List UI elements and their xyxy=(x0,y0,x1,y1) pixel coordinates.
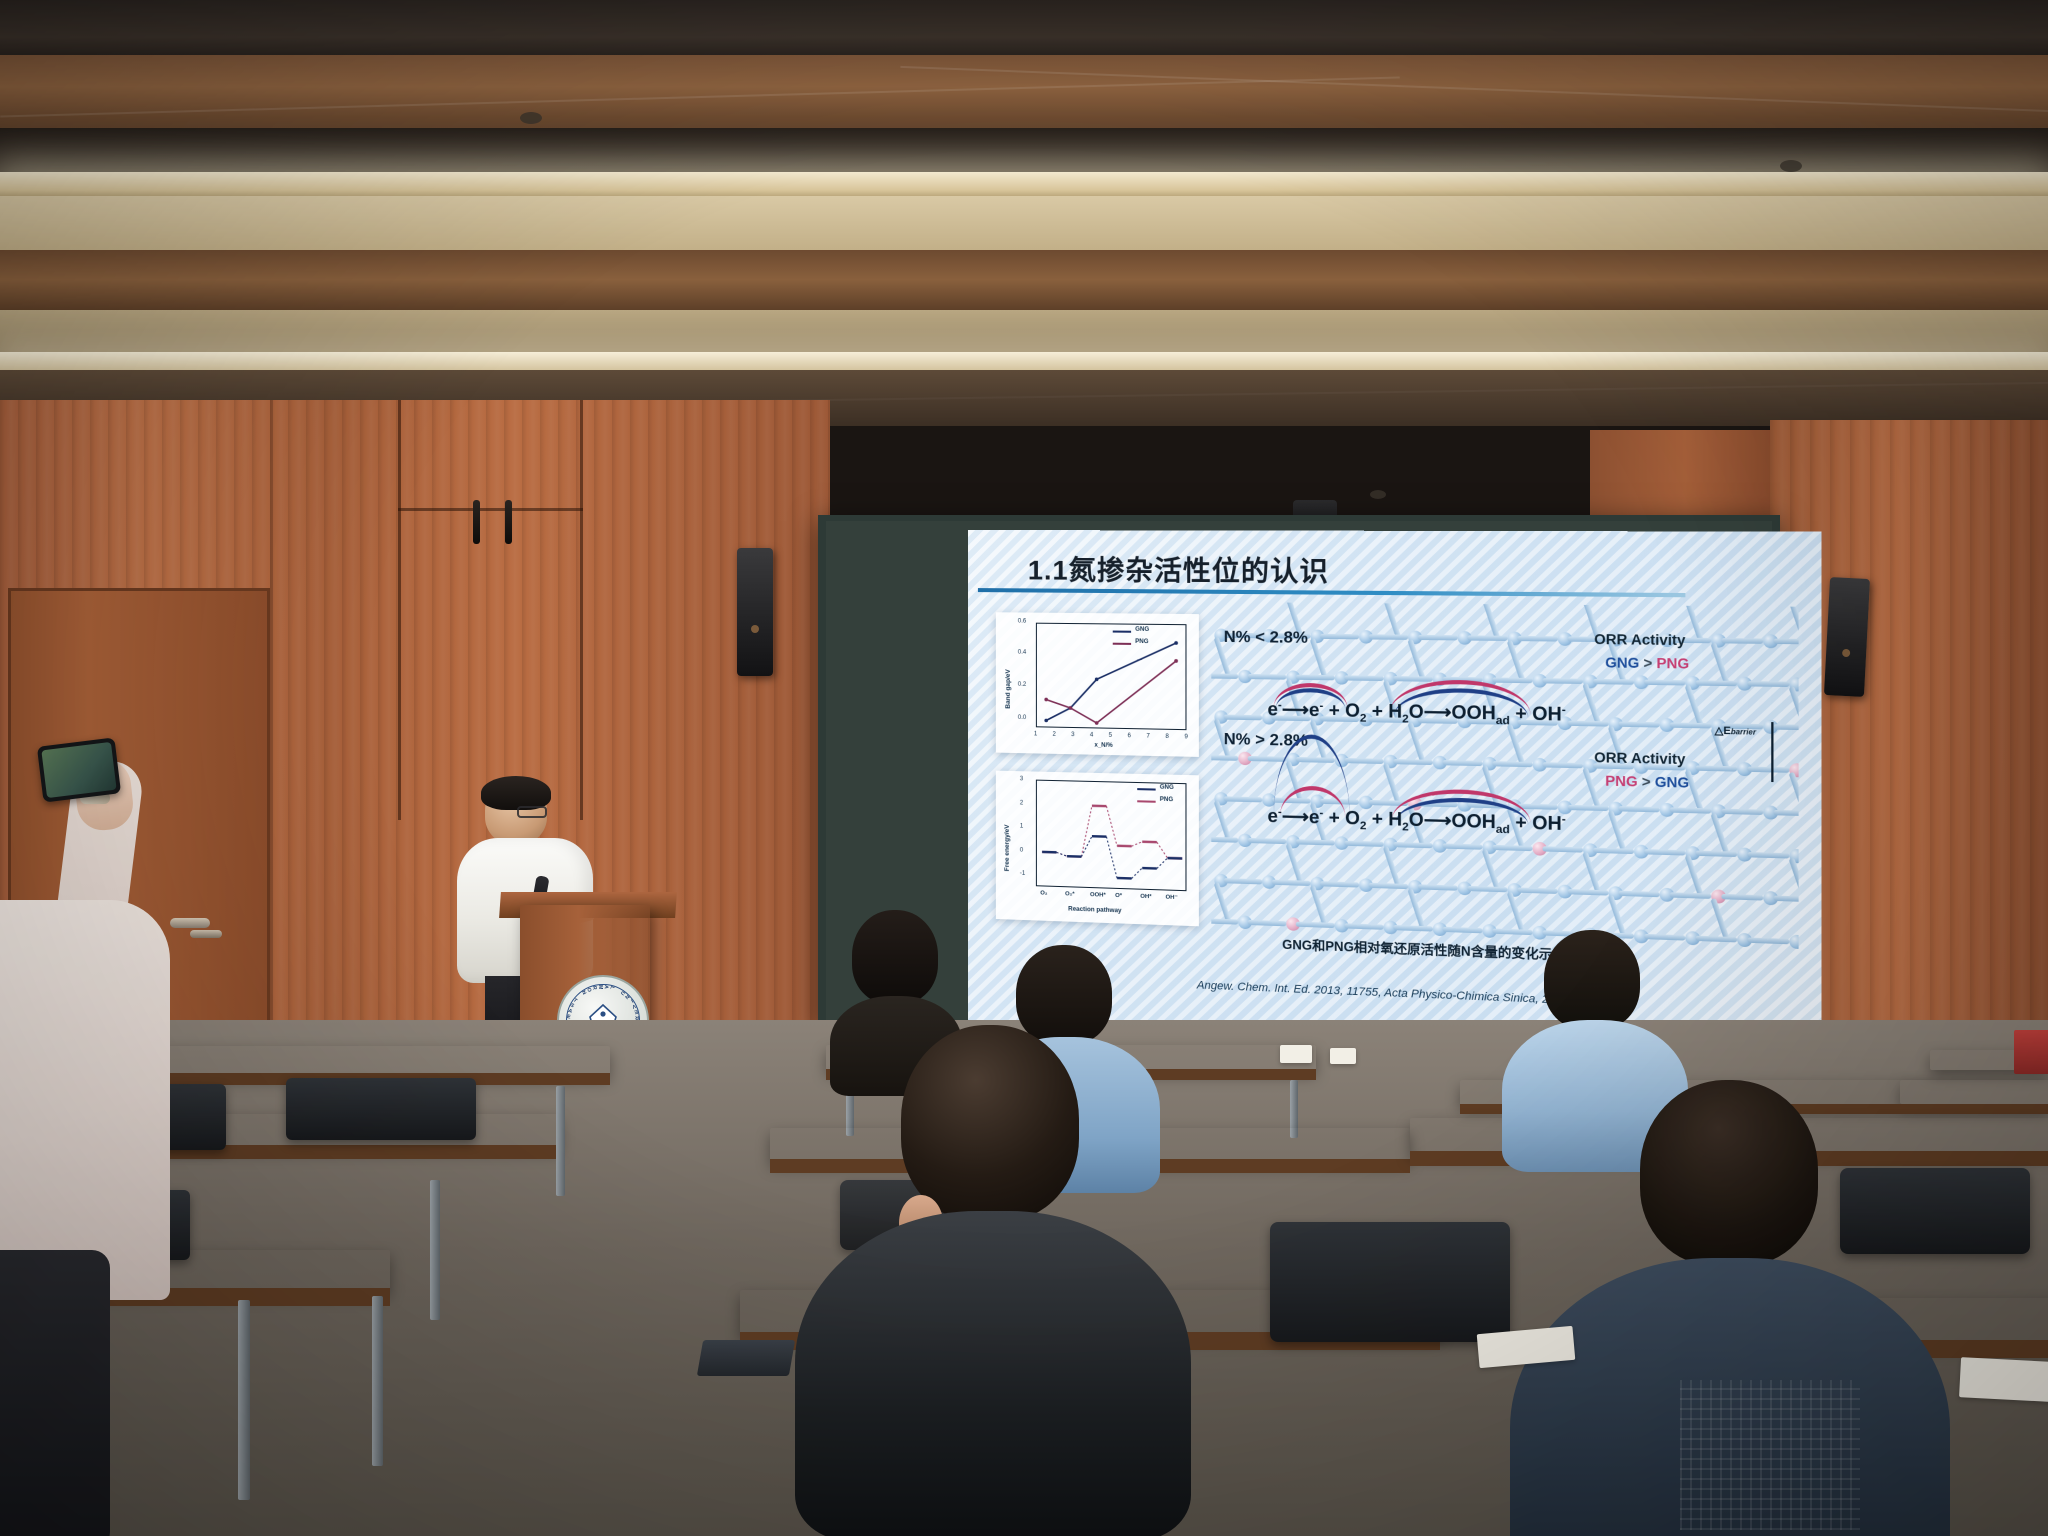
lattice-bond xyxy=(1272,880,1311,886)
presenter-glasses-icon xyxy=(517,806,547,818)
lattice-bond xyxy=(1517,636,1557,642)
chart-free-energy-xticks: O₂O₂*OOH*O*OH*OH⁻ xyxy=(996,771,1199,776)
cabinet-seam-horizontal xyxy=(398,508,583,511)
lattice-bond xyxy=(1721,638,1763,644)
lattice-bond xyxy=(1310,885,1328,926)
orr-compare-high-op: > xyxy=(1638,774,1655,790)
chart-free-energy-legend-swatch-gng xyxy=(1137,788,1155,790)
ceiling-vent-icon xyxy=(1780,160,1802,172)
attendee-right-front-shirt-pattern xyxy=(1680,1380,1860,1530)
lattice-atom xyxy=(1789,935,1798,949)
lattice-atom xyxy=(1789,602,1798,606)
lattice-bond xyxy=(1320,881,1359,887)
lattice-bond xyxy=(1670,807,1712,813)
chart-free-energy-yticks: -10123 xyxy=(996,771,1199,776)
ceiling-band-upper xyxy=(0,196,2048,256)
attendee-front-bald xyxy=(855,1025,1125,1345)
cabinet-handle-right[interactable] xyxy=(505,500,512,544)
chair-center-right[interactable] xyxy=(1270,1222,1510,1342)
lattice-bond xyxy=(1248,920,1287,927)
lattice-bond xyxy=(1747,852,1789,859)
orr-compare-high-a: PNG xyxy=(1605,773,1637,790)
chair-left-back-2[interactable] xyxy=(286,1078,476,1140)
lattice-bond xyxy=(1721,809,1763,815)
chart-free-energy-ytick-1: 0 xyxy=(1020,847,1023,853)
orr-compare-low-a: GNG xyxy=(1605,655,1639,671)
lattice-bond xyxy=(1492,677,1532,683)
lattice-bond xyxy=(1695,936,1737,943)
lattice-bond xyxy=(1773,810,1798,816)
ceiling-mount-icon xyxy=(1370,490,1386,499)
barrier-energy-subscript: barrier xyxy=(1731,729,1756,737)
lattice-bond xyxy=(1344,923,1383,930)
slide-title-underline xyxy=(978,588,1685,597)
lattice-bond xyxy=(1393,676,1433,682)
lattice-bond xyxy=(1482,849,1501,891)
cabinet-seam-vertical-2 xyxy=(580,400,583,820)
chart-band-gap-ytick-0: 0.0 xyxy=(1018,715,1026,721)
lattice-bond xyxy=(1517,887,1557,894)
orr-compare-low: GNG > PNG xyxy=(1605,655,1689,672)
lattice-bond xyxy=(1685,602,1704,642)
barrier-energy-symbol: △E xyxy=(1715,725,1731,737)
chart-free-energy-ylabel: Free energy/eV xyxy=(1004,824,1011,871)
lattice-bond xyxy=(1467,635,1507,641)
lattice-bond xyxy=(1582,683,1601,725)
lattice-bond xyxy=(1344,675,1383,681)
chart-band-gap-xtick-5: 6 xyxy=(1128,733,1131,739)
lattice-bond xyxy=(1747,681,1789,687)
lattice-bond xyxy=(1618,806,1659,812)
lattice-bond xyxy=(1443,760,1483,766)
lattice-bond xyxy=(1320,634,1359,640)
lattice-bond xyxy=(1383,846,1401,887)
lattice-bond xyxy=(1214,882,1232,923)
barrier-energy-arrow xyxy=(1771,722,1773,782)
emblem-letter: T xyxy=(572,997,578,1004)
chart-band-gap-xtick-3: 4 xyxy=(1090,732,1093,738)
desk-leg-left-1a xyxy=(556,1086,565,1196)
desk-leg-left-2a xyxy=(430,1180,440,1320)
lattice-bond xyxy=(1344,758,1383,764)
notebook-on-desk[interactable] xyxy=(697,1340,795,1376)
lattice-bond xyxy=(1383,763,1401,804)
chart-band-gap-legend-swatch-png xyxy=(1113,643,1131,645)
lattice-bond xyxy=(1695,680,1737,686)
lattice-bond xyxy=(1418,635,1458,641)
ceiling-light-strip-upper xyxy=(0,172,2048,198)
chart-free-energy-xtick-2: OOH* xyxy=(1090,892,1106,899)
lattice-atom xyxy=(1737,602,1752,605)
wall-speaker-right xyxy=(1824,577,1870,697)
lattice-bond xyxy=(1773,724,1798,730)
lattice-atom xyxy=(1483,602,1497,603)
lattice-bond xyxy=(1211,837,1238,843)
chart-free-energy[interactable]: Free energy/eV -10123 O₂O₂*OOH*O*OH*OH⁻ … xyxy=(996,771,1199,927)
lattice-bond xyxy=(1644,680,1685,686)
attendee-right-front-head xyxy=(1640,1080,1818,1266)
lattice-bond xyxy=(1393,842,1433,848)
lattice-bond xyxy=(1296,675,1335,681)
chart-band-gap-xtick-6: 7 xyxy=(1146,733,1149,739)
lattice-bond xyxy=(1492,761,1532,767)
attendee-front-bald-head xyxy=(901,1025,1079,1221)
desk-leg-left-3b xyxy=(372,1296,383,1466)
lattice-bond xyxy=(1492,845,1532,851)
slide-title: 1.1氮掺杂活性位的认识 xyxy=(1028,548,1329,589)
attendee-front-bald-body xyxy=(795,1211,1191,1536)
lattice-bond xyxy=(1507,724,1526,766)
ceiling-wood-beam-lower xyxy=(0,250,2048,316)
lattice-bond xyxy=(1344,841,1383,847)
lattice-bond xyxy=(1482,602,1501,639)
condition-label-low-nitrogen: N% < 2.8% xyxy=(1224,629,1308,648)
lattice-bond xyxy=(1224,715,1263,721)
lattice-bond xyxy=(1443,843,1483,849)
lattice-bond xyxy=(1224,878,1263,884)
red-book-on-desk[interactable] xyxy=(2014,1030,2048,1074)
chart-band-gap-xtick-1: 2 xyxy=(1052,732,1055,738)
lattice-bond xyxy=(1618,722,1659,728)
chart-free-energy-legend-swatch-png xyxy=(1137,800,1155,802)
attendee-foreground-left-body xyxy=(0,900,170,1300)
lattice-bond xyxy=(1685,855,1704,897)
door-handle-upper[interactable] xyxy=(170,918,210,928)
lattice-bond xyxy=(1542,678,1583,684)
chart-free-energy-xtick-3: O* xyxy=(1115,893,1122,899)
presenter-hair xyxy=(481,776,551,810)
lattice-bond xyxy=(1789,858,1799,901)
wall-speaker-left xyxy=(737,548,773,676)
lattice-bond xyxy=(1773,639,1798,645)
lattice-bond xyxy=(1507,891,1526,933)
lattice-bond xyxy=(1248,756,1287,762)
lattice-bond xyxy=(1685,684,1704,726)
door-handle-lower[interactable] xyxy=(190,930,222,938)
lattice-bond xyxy=(1670,722,1712,728)
cabinet-seam-vertical-3 xyxy=(270,400,273,1040)
lattice-bond xyxy=(1568,889,1609,896)
lattice-bond xyxy=(1747,937,1789,944)
ceiling-wood-beam-upper xyxy=(0,55,2048,135)
chart-free-energy-legend-label-gng: GNG xyxy=(1160,785,1174,791)
chart-band-gap-xlabel: x_N/% xyxy=(1094,743,1112,749)
lattice-bond xyxy=(1443,927,1483,934)
lattice-bond xyxy=(1296,922,1335,929)
chart-band-gap-xtick-2: 3 xyxy=(1071,732,1074,738)
chart-band-gap-xtick-8: 9 xyxy=(1184,734,1187,740)
lattice-atom xyxy=(1685,602,1700,605)
lattice-bond xyxy=(1542,762,1583,768)
lattice-bond xyxy=(1789,602,1799,643)
lattice-bond xyxy=(1507,640,1526,682)
lattice-bond xyxy=(1710,898,1729,940)
chart-band-gap-ylabel: Band gap/eV xyxy=(1005,669,1012,709)
attendee-right-back-head xyxy=(1544,930,1640,1030)
lattice-bond xyxy=(1721,894,1763,901)
lattice-bond xyxy=(1618,891,1659,898)
chart-band-gap-legend-label-gng: GNG xyxy=(1135,627,1149,633)
cabinet-handle-left[interactable] xyxy=(473,500,480,544)
small-paper-back-desk[interactable] xyxy=(1280,1045,1312,1063)
lattice-bond xyxy=(1393,925,1433,932)
lattice-bond xyxy=(1383,602,1401,638)
lattice-bond xyxy=(1211,918,1238,924)
chart-band-gap-legend-swatch-gng xyxy=(1113,631,1131,633)
small-paper-back-desk-2[interactable] xyxy=(1330,1048,1356,1064)
lattice-bond xyxy=(1710,813,1729,855)
lattice-atom xyxy=(1433,602,1447,603)
paper-sheet-right[interactable] xyxy=(1959,1357,2048,1403)
lattice-bond xyxy=(1644,849,1685,855)
lattice-bond xyxy=(1214,800,1232,841)
chart-free-energy-xtick-5: OH⁻ xyxy=(1166,895,1178,902)
cabinet-seam-vertical-1 xyxy=(398,400,401,820)
orr-compare-high: PNG > GNG xyxy=(1605,773,1689,791)
orr-activity-title-low: ORR Activity xyxy=(1594,631,1685,648)
lattice-bond xyxy=(1296,839,1335,845)
smartphone-screen xyxy=(41,742,116,798)
chart-band-gap-legend-label-png: PNG xyxy=(1135,639,1148,645)
lattice-bond xyxy=(1224,796,1263,802)
desk-leg-left-3a xyxy=(238,1300,250,1500)
chart-free-energy-ytick-0: -1 xyxy=(1020,871,1025,877)
chart-free-energy-ytick-3: 2 xyxy=(1020,800,1023,806)
chart-free-energy-ytick-2: 1 xyxy=(1020,824,1023,830)
attendee-back-left-head xyxy=(852,910,938,1004)
orr-compare-low-op: > xyxy=(1639,655,1656,671)
lattice-bond xyxy=(1695,765,1737,771)
lattice-bond xyxy=(1407,722,1425,763)
lattice-bond xyxy=(1407,888,1425,929)
lattice-bond xyxy=(1608,810,1627,852)
lattice-bond xyxy=(1418,884,1458,890)
lattice-bond xyxy=(1789,686,1799,729)
chart-band-gap-ytick-1: 0.2 xyxy=(1018,682,1026,688)
lattice-bond xyxy=(1789,772,1799,815)
chart-free-energy-xtick-0: O₂ xyxy=(1040,890,1047,896)
chart-free-energy-xtick-4: OH* xyxy=(1140,894,1151,900)
chart-free-energy-legend-label-png: PNG xyxy=(1160,797,1173,803)
lattice-bond xyxy=(1747,767,1789,773)
chart-band-gap-xtick-0: 1 xyxy=(1034,731,1037,737)
lattice-bond xyxy=(1211,755,1238,761)
chart-band-gap-xticks: 123456789 xyxy=(996,612,1199,614)
attendee-right-front xyxy=(1560,1080,1890,1536)
lattice-atom xyxy=(1634,602,1648,604)
lattice-bond xyxy=(1467,886,1507,893)
lattice-bond xyxy=(1310,638,1328,679)
lattice-bond xyxy=(1248,674,1287,680)
lattice-bond xyxy=(1393,759,1433,765)
lattice-bond xyxy=(1593,848,1634,854)
orr-compare-high-b: GNG xyxy=(1655,774,1689,791)
lattice-bond xyxy=(1695,851,1737,858)
lattice-bond xyxy=(1407,639,1425,680)
lattice-bond xyxy=(1582,767,1601,809)
chart-band-gap[interactable]: Band gap/eV 0.6 0.4 0.2 0.0 123456789 x_… xyxy=(996,612,1199,757)
lattice-bond xyxy=(1670,892,1712,899)
chart-free-energy-ytick-4: 3 xyxy=(1020,776,1023,782)
barrier-energy-label: △Ebarrier xyxy=(1715,725,1756,737)
orr-compare-low-b: PNG xyxy=(1656,655,1689,671)
attendee-foreground-left xyxy=(0,1020,210,1536)
chart-band-gap-xtick-7: 8 xyxy=(1165,734,1168,740)
chart-free-energy-xlabel: Reaction pathway xyxy=(1068,905,1121,914)
chart-band-gap-plot xyxy=(1036,623,1187,730)
lattice-bond xyxy=(1542,846,1583,852)
smartphone-recording[interactable] xyxy=(37,737,121,802)
lattice-bond xyxy=(1582,852,1601,894)
chart-band-gap-ytick-3: 0.6 xyxy=(1018,618,1026,624)
ceiling-band-lower xyxy=(0,310,2048,356)
lattice-bond xyxy=(1211,673,1238,679)
lecture-hall-scene: 1.1氮掺杂活性位的认识 Band gap/eV 0.6 0.4 0.2 xyxy=(0,0,2048,1536)
chart-band-gap-xtick-4: 5 xyxy=(1109,733,1112,739)
lattice-bond xyxy=(1369,634,1408,640)
chart-band-gap-ytick-2: 0.4 xyxy=(1018,650,1026,656)
chart-free-energy-xtick-1: O₂* xyxy=(1065,891,1074,897)
lattice-bond xyxy=(1286,843,1304,884)
lattice-bond xyxy=(1568,805,1609,811)
lattice-bond xyxy=(1248,838,1287,844)
ceiling-panel-dark-upper xyxy=(0,0,2048,62)
lattice-atom xyxy=(1583,602,1597,604)
ceiling-sprinkler-icon xyxy=(520,112,542,124)
orr-activity-title-high: ORR Activity xyxy=(1594,750,1685,768)
lattice-atom xyxy=(1533,602,1547,604)
lattice-bond xyxy=(1568,721,1609,727)
lattice-bond xyxy=(1369,883,1408,889)
emblem-letter: L xyxy=(608,985,615,990)
attendee-foreground-left-lower xyxy=(0,1250,110,1536)
chart-band-gap-svg xyxy=(1037,624,1188,732)
lattice-bond xyxy=(1710,642,1729,684)
lattice-bond xyxy=(1593,679,1634,685)
